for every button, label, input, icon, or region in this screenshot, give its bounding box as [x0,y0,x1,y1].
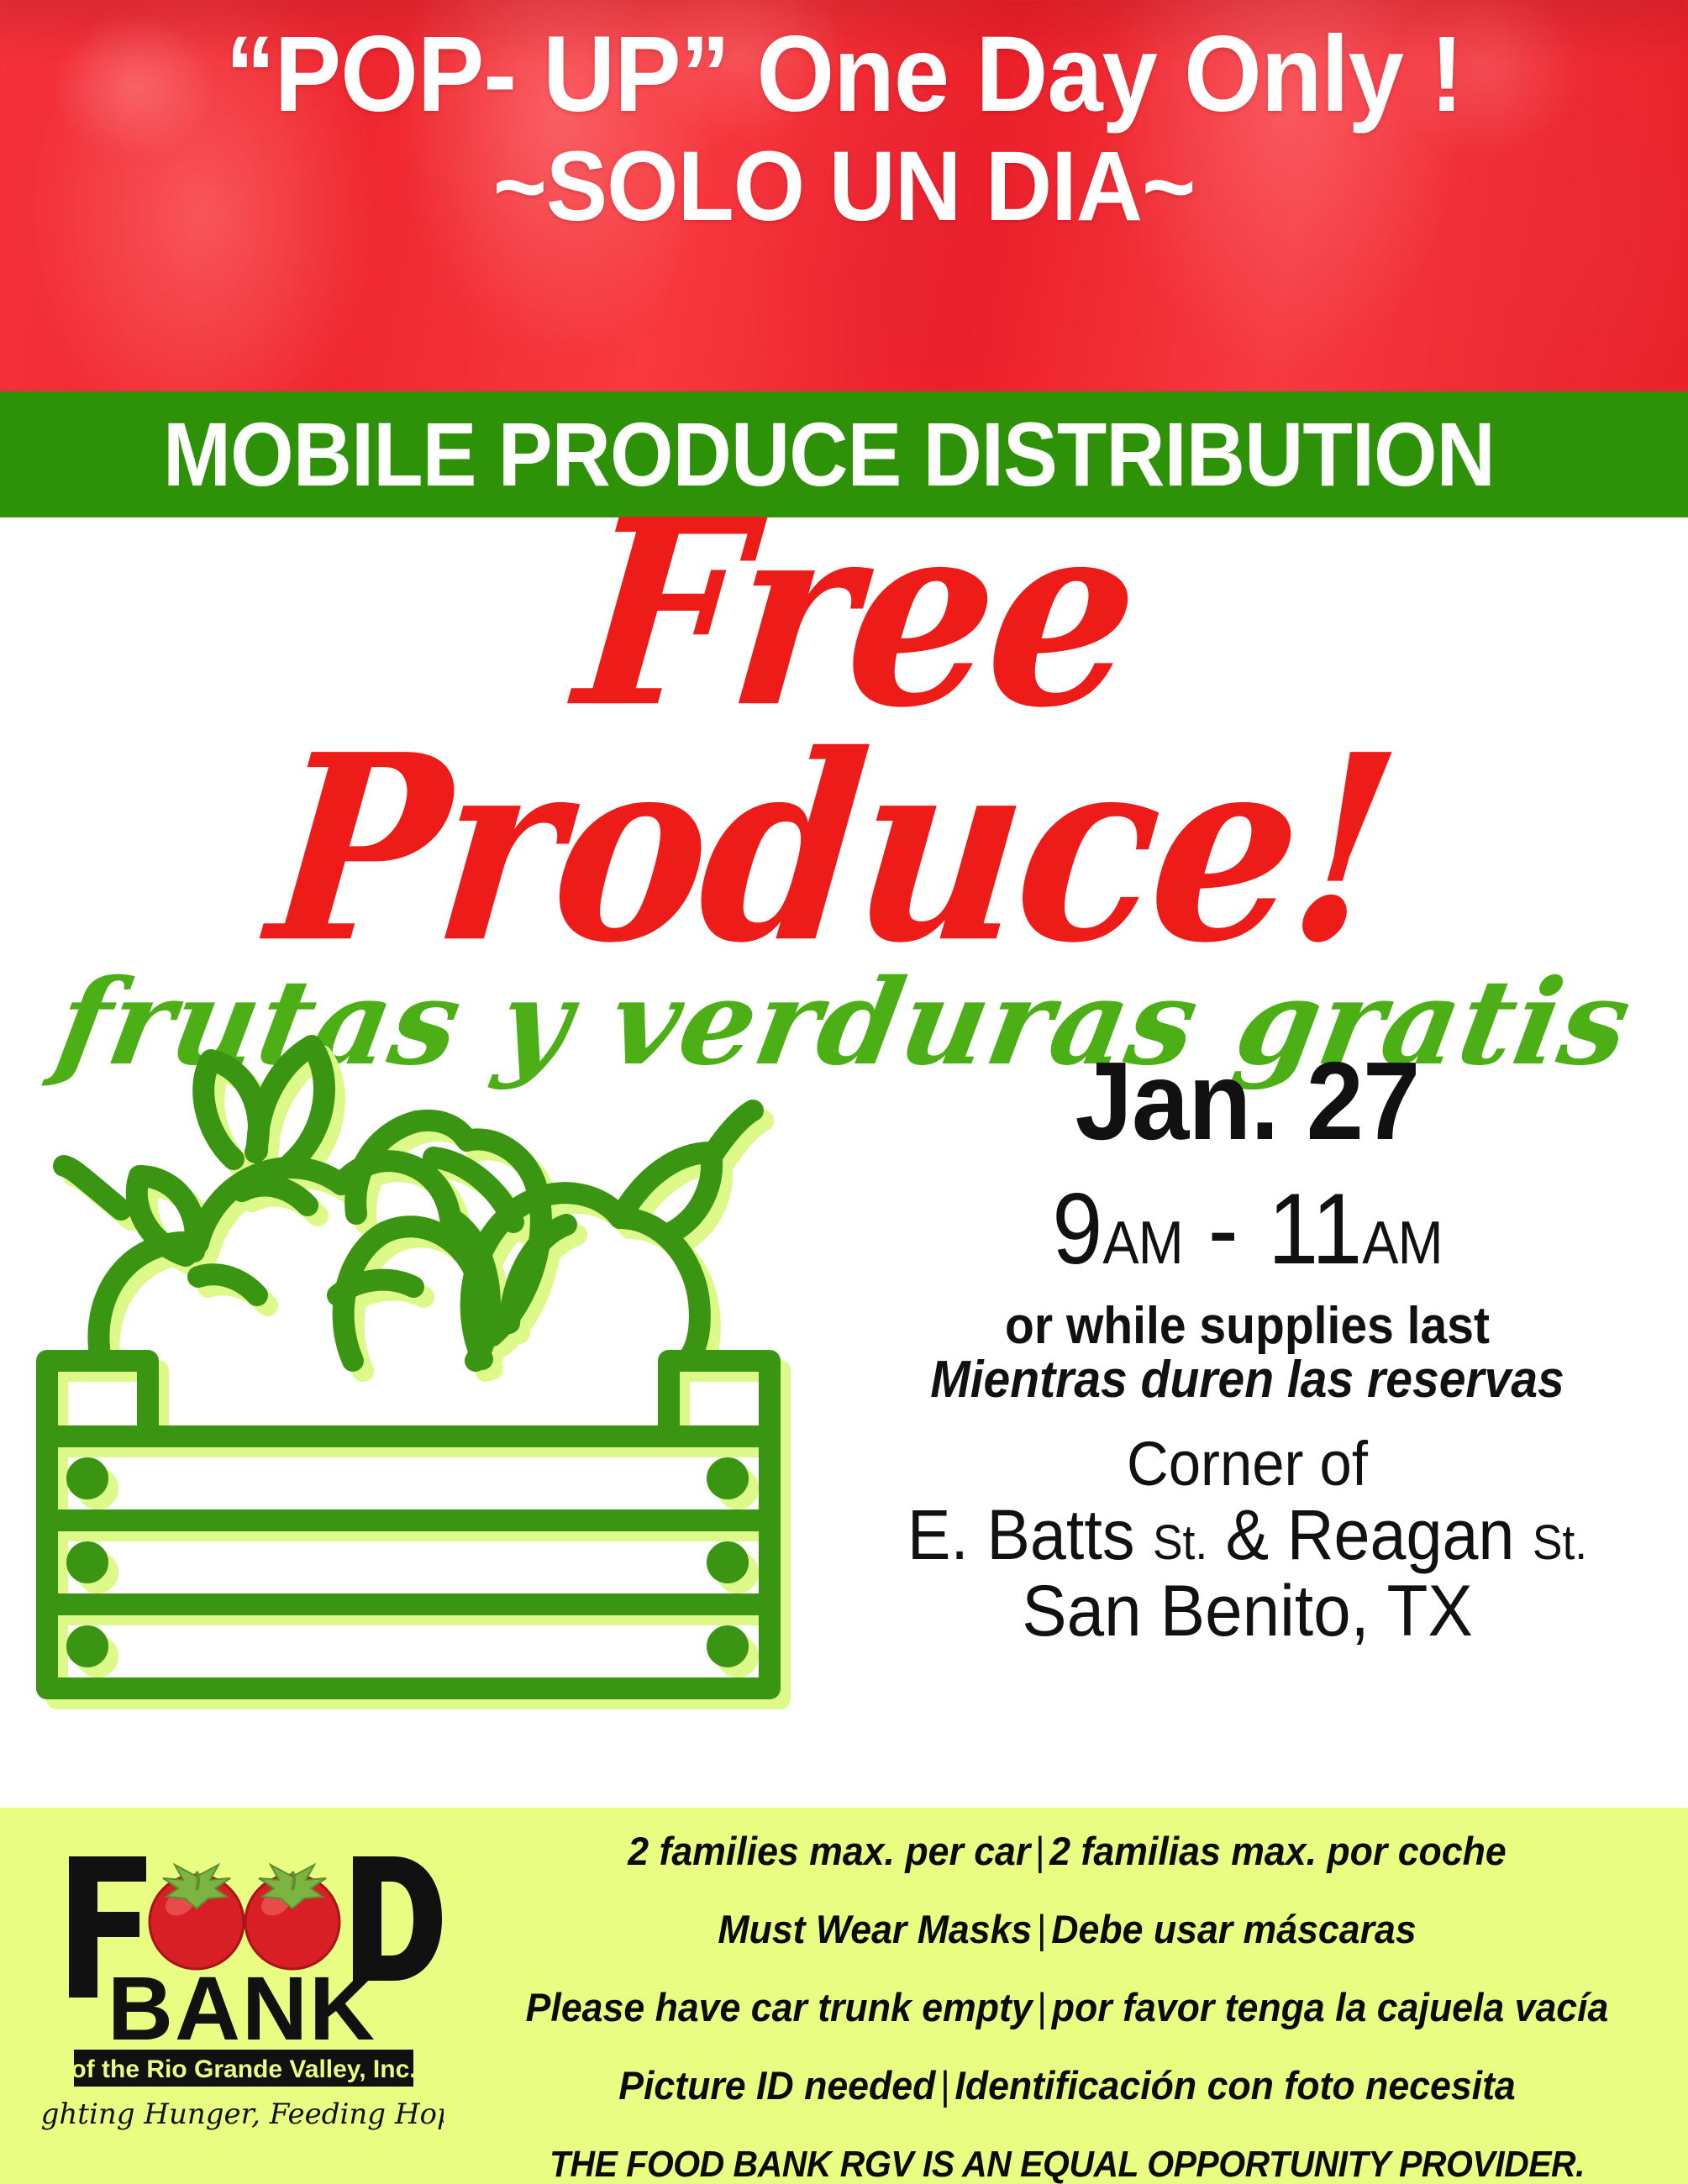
logo-subtitle: of the Rio Grande Valley, Inc. [71,2055,416,2083]
flyer-page: “POP- UP” One Day Only ! ~SOLO UN DIA~ M… [0,0,1688,2184]
rule-english: Picture ID needed [618,2063,935,2108]
produce-crate-icon [22,966,795,1764]
hero-headline-spanish: ~SOLO UN DIA~ [59,139,1628,236]
rule-item: 2 families max. per car|2 familias max. … [501,1831,1634,1871]
rule-separator: | [1032,1907,1051,1951]
free-produce-headline: Free Produce! [0,497,1688,969]
rule-item: Must Wear Masks|Debe usar máscaras [501,1909,1634,1949]
time-start-ampm: AM [1102,1210,1182,1277]
hero-text-block: “POP- UP” One Day Only ! ~SOLO UN DIA~ [0,22,1688,236]
time-end: 11 [1268,1173,1362,1285]
rule-item: Picture ID needed|Identificación con fot… [501,2066,1634,2105]
location-corner-label: Corner of [838,1431,1658,1497]
street-ampersand: & [1226,1495,1270,1574]
food-bank-logo: BANK of the Rio Grande Valley, Inc. Figh… [40,1838,444,2150]
logo-tagline: Fighting Hunger, Feeding Hope [40,2097,444,2131]
rule-english: Please have car trunk empty [526,1985,1033,2029]
rule-spanish: Debe usar máscaras [1051,1907,1416,1951]
tomato-icon-1 [150,1865,244,1969]
rule-separator: | [935,2063,954,2108]
rule-item: Please have car trunk empty|por favor te… [501,1987,1634,2027]
rule-english: Must Wear Masks [718,1907,1032,1951]
rule-separator: | [1030,1829,1049,1873]
rules-list: 2 families max. per car|2 familias max. … [471,1831,1664,2184]
rule-spanish: Identificación con foto necesita [954,2063,1515,2108]
supplies-note-english: or while supplies last [842,1299,1653,1353]
rule-separator: | [1033,1985,1052,2029]
street-a: E. Batts [907,1495,1135,1574]
rule-spanish: por favor tenga la cajuela vacía [1052,1985,1609,2029]
event-date: Jan. 27 [838,1046,1658,1157]
tomato-icon-2 [245,1865,339,1969]
hero-headline-english: “POP- UP” One Day Only ! [59,22,1628,127]
time-end-ampm: AM [1362,1210,1442,1277]
street-b: Reagan [1287,1495,1515,1574]
location-city: San Benito, TX [838,1572,1658,1651]
event-time: 9AM - 11AM [850,1179,1643,1279]
logo-word-bank: BANK [108,1957,376,2059]
event-details: Jan. 27 9AM - 11AM or while supplies las… [807,1046,1688,1651]
rule-english: 2 families max. per car [628,1829,1030,1873]
footer-band: BANK of the Rio Grande Valley, Inc. Figh… [0,1808,1688,2184]
street-b-suffix: St. [1533,1515,1587,1570]
time-start: 9 [1052,1173,1102,1285]
equal-opportunity-statement: THE FOOD BANK RGV IS AN EQUAL OPPORTUNIT… [513,2144,1622,2184]
rule-spanish: 2 familias max. por coche [1049,1829,1506,1873]
hero-banner: “POP- UP” One Day Only ! ~SOLO UN DIA~ [0,0,1688,391]
time-dash: - [1208,1173,1243,1285]
location-streets: E. Batts St. & Reagan St. [842,1497,1653,1573]
street-a-suffix: St. [1153,1515,1207,1570]
supplies-note-spanish: Mientras duren las reservas [842,1353,1653,1407]
